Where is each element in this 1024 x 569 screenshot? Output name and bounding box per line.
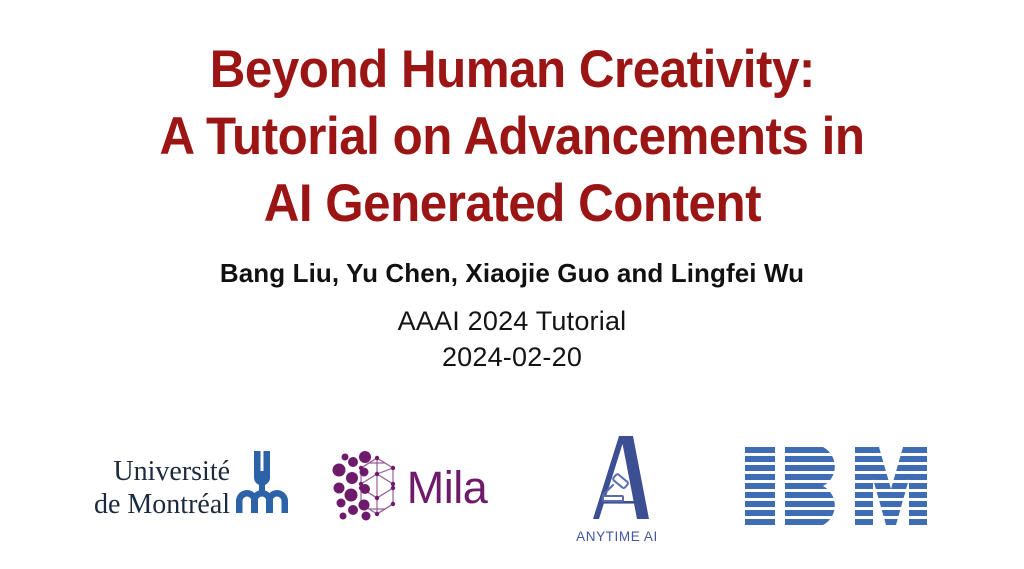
page-title: Beyond Human Creativity: A Tutorial on A… bbox=[0, 36, 1024, 237]
udem-emblem-icon bbox=[234, 451, 290, 518]
sponsor-logo-row: Université de Montréal bbox=[0, 432, 1024, 544]
title-slide: Beyond Human Creativity: A Tutorial on A… bbox=[0, 0, 1024, 569]
authors-line: Bang Liu, Yu Chen, Xiaojie Guo and Lingf… bbox=[220, 257, 804, 289]
event-date: 2024-02-20 bbox=[442, 339, 582, 375]
title-line-2: A Tutorial on Advancements in bbox=[160, 103, 865, 170]
logo-mila: Mila bbox=[316, 432, 502, 544]
anytime-ai-wordmark: ANYTIME AI bbox=[576, 529, 658, 544]
ibm-striped-logo-icon bbox=[745, 447, 935, 530]
logo-anytime-ai: ANYTIME AI bbox=[532, 432, 702, 544]
anytime-a-gavel-icon bbox=[569, 433, 665, 528]
event-meta: AAAI 2024 Tutorial 2024-02-20 bbox=[398, 303, 627, 375]
mila-network-icon bbox=[331, 448, 405, 529]
udem-line-2: de Montréal bbox=[94, 488, 230, 521]
event-name: AAAI 2024 Tutorial bbox=[398, 303, 627, 339]
udem-line-1: Université bbox=[113, 455, 230, 488]
mila-wordmark: Mila bbox=[407, 464, 488, 512]
title-line-3: AI Generated Content bbox=[263, 170, 760, 237]
title-line-1: Beyond Human Creativity: bbox=[209, 36, 814, 103]
logo-ibm bbox=[730, 432, 950, 544]
logo-universite-de-montreal: Université de Montréal bbox=[74, 432, 310, 544]
